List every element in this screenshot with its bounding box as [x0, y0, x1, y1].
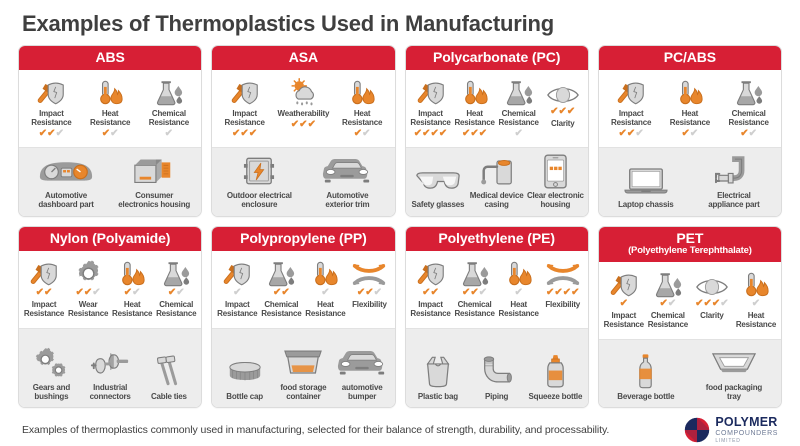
application-label: Cable ties [151, 393, 187, 402]
application-label: Squeeze bottle [529, 393, 583, 402]
checkmark-icon: ✔ [563, 288, 571, 297]
checkmark-icon: ✔ [362, 129, 370, 138]
thermometer-flame-icon [676, 77, 704, 107]
property-label: Impact Resistance [410, 110, 450, 128]
checkmark-icon: ✔ [308, 120, 316, 129]
food-container-icon [282, 346, 324, 380]
checkmark-icon: ✔ [233, 288, 241, 297]
application-item: Beverage bottle [602, 355, 690, 402]
checkmark-icon: ✔ [470, 129, 478, 138]
property-item: Weatherability✔✔✔ [274, 77, 333, 129]
checkmark-icon: ✔ [249, 129, 257, 138]
rating-ticks: ✔ [321, 288, 329, 297]
property-item: Heat Resistance✔✔✔ [453, 77, 497, 138]
car-front-icon [321, 154, 373, 188]
cable-ties-icon [153, 355, 185, 389]
page-title: Examples of Thermoplastics Used in Manuf… [18, 0, 782, 45]
property-item: ✔✔✔Clarity [541, 77, 585, 129]
card-title: ABS [95, 49, 124, 65]
application-item: Electrical appliance part [690, 154, 778, 210]
property-item: ✔Impact Resistance [215, 258, 259, 319]
property-label: Impact Resistance [410, 301, 450, 319]
rating-ticks: ✔✔ [422, 288, 439, 297]
hammer-shield-icon [415, 258, 447, 288]
application-item: Automotive dashboard part [22, 154, 110, 210]
properties-section: Impact Resistance✔✔✔ Heat Resistance✔✔ C… [599, 70, 781, 148]
application-label: Automotive dashboard part [38, 192, 93, 210]
rating-ticks: ✔✔✔✔ [546, 288, 580, 297]
application-label: Gears and bushings [33, 384, 70, 402]
applications-section: Outdoor electrical enclosure Automotive … [212, 148, 394, 216]
application-item: Consumer electronics housing [110, 154, 198, 210]
checkmark-icon: ✔ [690, 129, 698, 138]
beverage-bottle-icon [635, 355, 656, 389]
checkmark-icon: ✔ [176, 288, 184, 297]
checkmark-icon: ✔ [740, 129, 748, 138]
checkmark-icon: ✔ [44, 288, 52, 297]
rating-ticks: ✔✔ [659, 299, 676, 308]
hammer-shield-icon [28, 258, 60, 288]
dashboard-icon [37, 154, 95, 188]
checkmark-icon: ✔ [102, 129, 110, 138]
property-label: Heat Resistance [499, 301, 539, 319]
checkmark-icon: ✔ [414, 129, 422, 138]
card-header: PC/ABS [599, 46, 781, 70]
card-title: Nylon (Polyamide) [50, 230, 170, 246]
rating-ticks: ✔✔ [740, 129, 757, 138]
safety-glasses-icon [414, 163, 462, 197]
rating-ticks: ✔✔✔ [619, 129, 644, 138]
rating-ticks: ✔✔ [102, 129, 119, 138]
material-card-pet: PET(Polyethylene Terephthalate) ✔Impact … [598, 226, 782, 408]
infographic-page: Examples of Thermoplastics Used in Manuf… [0, 0, 800, 446]
application-item: Plastic bag [409, 355, 468, 402]
application-label: Industrial connectors [90, 384, 131, 402]
medical-device-icon [478, 154, 516, 188]
checkmark-icon: ✔ [357, 288, 365, 297]
checkmark-icon: ✔ [559, 107, 567, 116]
flexibility-arrows-icon [545, 258, 581, 288]
property-label: Impact Resistance [217, 301, 257, 319]
checkmark-icon: ✔ [695, 299, 703, 308]
checkmark-icon: ✔ [110, 129, 118, 138]
checkmark-icon: ✔ [470, 288, 478, 297]
plastic-bag-icon [421, 355, 455, 389]
properties-section: ✔✔Impact Resistance ✔✔✔Wear Resistance ✔… [19, 251, 201, 329]
property-label: Impact Resistance [604, 312, 644, 330]
checkmark-icon: ✔ [619, 129, 627, 138]
thermometer-flame-icon [96, 77, 124, 107]
checkmark-icon: ✔ [291, 120, 299, 129]
checkmark-icon: ✔ [321, 288, 329, 297]
card-title: PET [676, 230, 703, 246]
cards-row-bottom: Nylon (Polyamide) ✔✔Impact Resistance ✔✔… [18, 226, 782, 408]
checkmark-icon: ✔ [39, 129, 47, 138]
card-title: Polypropylene (PP) [240, 230, 367, 246]
property-label: Impact Resistance [225, 110, 265, 128]
application-item: Medical device casing [467, 154, 526, 210]
flask-droplet-icon [653, 269, 683, 299]
squeeze-bottle-icon [543, 355, 568, 389]
rating-ticks: ✔✔✔ [291, 120, 316, 129]
property-label: Heat Resistance [736, 312, 776, 330]
application-item: Cable ties [140, 355, 199, 402]
eye-icon [695, 269, 729, 299]
rating-ticks: ✔✔✔ [39, 129, 64, 138]
rating-ticks: ✔ [165, 129, 173, 138]
property-label: Chemical Resistance [454, 301, 494, 319]
checkmark-icon: ✔ [620, 299, 628, 308]
company-logo: POLYMER COMPOUNDERS LIMITED [684, 416, 778, 444]
rating-ticks: ✔ [514, 129, 522, 138]
checkmark-icon: ✔ [354, 129, 362, 138]
thermometer-flame-icon [118, 258, 146, 288]
checkmark-icon: ✔ [84, 288, 92, 297]
checkmark-icon: ✔ [571, 288, 579, 297]
property-label: Heat Resistance [90, 110, 130, 128]
hammer-shield-icon [35, 77, 67, 107]
property-label: Heat Resistance [454, 110, 494, 128]
application-label: Automotive exterior trim [325, 192, 369, 210]
rating-ticks: ✔✔✔ [232, 129, 257, 138]
application-item: Safety glasses [409, 163, 468, 210]
checkmark-icon: ✔ [514, 288, 522, 297]
material-card-nylon-polyamide: Nylon (Polyamide) ✔✔Impact Resistance ✔✔… [18, 226, 202, 408]
application-label: Beverage bottle [617, 393, 674, 402]
checkmark-icon: ✔ [627, 129, 635, 138]
application-label: Medical device casing [470, 192, 524, 210]
property-label: Chemical Resistance [261, 301, 301, 319]
card-title: Polycarbonate (PC) [433, 49, 560, 65]
checkmark-icon: ✔ [749, 129, 757, 138]
footer-caption: Examples of thermoplastics commonly used… [22, 424, 609, 436]
property-label: Weatherability [278, 110, 330, 119]
checkmark-icon: ✔ [668, 299, 676, 308]
property-item: ✔✔✔Flexibility [347, 258, 391, 310]
application-label: food storage container [280, 384, 326, 402]
hammer-shield-icon [615, 77, 647, 107]
hammer-shield-icon [415, 77, 447, 107]
property-label: Chemical Resistance [156, 301, 196, 319]
material-card-pc-abs: PC/ABS Impact Resistance✔✔✔ Heat Resista… [598, 45, 782, 217]
card-header: Nylon (Polyamide) [19, 227, 201, 251]
rating-ticks: ✔✔✔✔ [695, 299, 729, 308]
property-label: Wear Resistance [68, 301, 108, 319]
smartphone-icon [543, 154, 568, 188]
thermometer-flame-icon [311, 258, 339, 288]
checkmark-icon: ✔ [374, 288, 382, 297]
thermometer-flame-icon [461, 77, 489, 107]
checkmark-icon: ✔ [47, 129, 55, 138]
property-label: Chemical Resistance [729, 110, 769, 128]
rating-ticks: ✔✔✔ [462, 288, 487, 297]
property-label: Heat Resistance [112, 301, 152, 319]
application-item: food storage container [274, 346, 333, 402]
property-item: ✔✔✔✔Flexibility [541, 258, 585, 310]
packaging-tray-icon [711, 346, 757, 380]
property-item: ✔✔Chemical Resistance [154, 258, 198, 319]
checkmark-icon: ✔ [462, 129, 470, 138]
application-item: Automotive exterior trim [303, 154, 391, 210]
checkmark-icon: ✔ [550, 107, 558, 116]
logo-line-1: POLYMER [715, 416, 778, 429]
thermometer-flame-icon [505, 258, 533, 288]
application-item: Squeeze bottle [526, 355, 585, 402]
property-item: ✔✔✔✔Clarity [690, 269, 734, 321]
property-item: Heat Resistance✔✔ [81, 77, 140, 138]
properties-section: ✔Impact Resistance ✔✔Chemical Resistance… [212, 251, 394, 329]
application-item: Laptop chassis [602, 163, 690, 210]
rating-ticks: ✔✔✔ [550, 107, 575, 116]
rating-ticks: ✔ [620, 299, 628, 308]
property-label: Chemical Resistance [499, 110, 539, 128]
checkmark-icon: ✔ [431, 288, 439, 297]
applications-section: Plastic bag Piping Squeeze bottle [406, 329, 588, 407]
checkmark-icon: ✔ [56, 129, 64, 138]
property-item: Heat Resistance✔✔ [661, 77, 720, 138]
checkmark-icon: ✔ [554, 288, 562, 297]
property-item: ✔✔✔Chemical Resistance [453, 258, 497, 319]
property-label: Impact Resistance [31, 110, 71, 128]
rating-ticks: ✔✔ [36, 288, 53, 297]
material-card-polycarbonate-pc: Polycarbonate (PC) Impact Resistance✔✔✔✔… [405, 45, 589, 217]
checkmark-icon: ✔ [635, 129, 643, 138]
material-card-polyethylene-pe: Polyethylene (PE) ✔✔Impact Resistance ✔✔… [405, 226, 589, 408]
property-item: ✔✔Impact Resistance [22, 258, 66, 319]
rating-ticks: ✔✔✔✔ [414, 129, 448, 138]
application-item: Industrial connectors [81, 346, 140, 402]
checkmark-icon: ✔ [273, 288, 281, 297]
property-item: Chemical Resistance✔ [140, 77, 199, 138]
checkmark-icon: ✔ [232, 129, 240, 138]
rating-ticks: ✔✔✔ [462, 129, 487, 138]
property-item: ✔✔Chemical Resistance [259, 258, 303, 319]
property-label: Heat Resistance [670, 110, 710, 128]
applications-section: Laptop chassis Electrical appliance part [599, 148, 781, 216]
footer: Examples of thermoplastics commonly used… [18, 408, 782, 444]
application-item: Outdoor electrical enclosure [215, 154, 303, 210]
property-item: Chemical Resistance✔✔ [719, 77, 778, 138]
applications-section: Beverage bottle food packaging tray [599, 340, 781, 408]
property-label: Heat Resistance [342, 110, 382, 128]
flask-droplet-icon [266, 258, 296, 288]
application-label: Consumer electronics housing [118, 192, 190, 210]
flask-droplet-icon [504, 77, 534, 107]
properties-section: Impact Resistance✔✔✔ Weatherability✔✔✔ H… [212, 70, 394, 148]
property-item: ✔✔Impact Resistance [409, 258, 453, 319]
cards-row-top: ABS Impact Resistance✔✔✔ Heat Resistance… [18, 45, 782, 217]
checkmark-icon: ✔ [704, 299, 712, 308]
flexibility-arrows-icon [351, 258, 387, 288]
properties-section: ✔Impact Resistance ✔✔Chemical Resistance… [599, 262, 781, 340]
checkmark-icon: ✔ [479, 129, 487, 138]
checkmark-icon: ✔ [462, 288, 470, 297]
application-item: Gears and bushings [22, 346, 81, 402]
property-item: ✔✔Chemical Resistance [646, 269, 690, 330]
card-title: ASA [289, 49, 318, 65]
rating-ticks: ✔✔✔ [357, 288, 382, 297]
property-label: Impact Resistance [611, 110, 651, 128]
properties-section: Impact Resistance✔✔✔ Heat Resistance✔✔ C… [19, 70, 201, 148]
flask-droplet-icon [154, 77, 184, 107]
checkmark-icon: ✔ [431, 129, 439, 138]
checkmark-icon: ✔ [681, 129, 689, 138]
property-item: ✔Heat Resistance [303, 258, 347, 319]
card-title: PC/ABS [664, 49, 716, 65]
checkmark-icon: ✔ [36, 288, 44, 297]
applications-section: Automotive dashboard part Consumer elect… [19, 148, 201, 216]
thermometer-flame-icon [348, 77, 376, 107]
card-subtitle: (Polyethylene Terephthalate) [603, 246, 777, 256]
flask-droplet-icon [734, 77, 764, 107]
property-item: Impact Resistance✔✔✔ [602, 77, 661, 138]
application-label: Laptop chassis [618, 201, 673, 210]
application-item: food packaging tray [690, 346, 778, 402]
application-label: Piping [485, 393, 508, 402]
applications-section: Gears and bushings Industrial connectors… [19, 329, 201, 407]
checkmark-icon: ✔ [299, 120, 307, 129]
property-item: Impact Resistance✔✔✔ [215, 77, 274, 138]
logo-mark-icon [684, 417, 710, 443]
checkmark-icon: ✔ [422, 288, 430, 297]
electronics-housing-icon [132, 154, 176, 188]
material-card-asa: ASA Impact Resistance✔✔✔ Weatherability✔… [211, 45, 395, 217]
rating-ticks: ✔ [233, 288, 241, 297]
card-header: ABS [19, 46, 201, 70]
rating-ticks: ✔✔ [124, 288, 141, 297]
properties-section: Impact Resistance✔✔✔✔ Heat Resistance✔✔✔… [406, 70, 588, 148]
card-header: Polypropylene (PP) [212, 227, 394, 251]
property-label: Flexibility [545, 301, 580, 310]
rating-ticks: ✔✔ [354, 129, 371, 138]
plug-icon [715, 154, 753, 188]
checkmark-icon: ✔ [439, 129, 447, 138]
hammer-shield-icon [221, 258, 253, 288]
logo-line-2: COMPOUNDERS [715, 430, 778, 437]
gears-icon [32, 346, 70, 380]
checkmark-icon: ✔ [168, 288, 176, 297]
checkmark-icon: ✔ [365, 288, 373, 297]
material-card-abs: ABS Impact Resistance✔✔✔ Heat Resistance… [18, 45, 202, 217]
laptop-icon [623, 163, 669, 197]
electrical-enclosure-icon [243, 154, 275, 188]
application-label: Bottle cap [226, 393, 263, 402]
applications-section: Safety glasses Medical device casing Cle… [406, 148, 588, 216]
rating-ticks: ✔✔ [681, 129, 698, 138]
checkmark-icon: ✔ [479, 288, 487, 297]
property-label: Impact Resistance [24, 301, 64, 319]
property-label: Chemical Resistance [648, 312, 688, 330]
card-title: Polyethylene (PE) [438, 230, 555, 246]
checkmark-icon: ✔ [92, 288, 100, 297]
checkmark-icon: ✔ [281, 288, 289, 297]
property-item: ✔Heat Resistance [734, 269, 778, 330]
card-header: PET(Polyethylene Terephthalate) [599, 227, 781, 261]
car-front-icon [336, 346, 388, 380]
card-header: Polyethylene (PE) [406, 227, 588, 251]
property-label: Clarity [700, 312, 724, 321]
rating-ticks: ✔✔ [168, 288, 185, 297]
checkmark-icon: ✔ [712, 299, 720, 308]
property-item: Impact Resistance✔✔✔✔ [409, 77, 453, 138]
property-item: Impact Resistance✔✔✔ [22, 77, 81, 138]
checkmark-icon: ✔ [240, 129, 248, 138]
checkmark-icon: ✔ [659, 299, 667, 308]
gear-icon [74, 258, 103, 288]
hammer-shield-icon [229, 77, 261, 107]
material-card-polypropylene-pp: Polypropylene (PP) ✔Impact Resistance ✔✔… [211, 226, 395, 408]
bottle-cap-icon [226, 355, 264, 389]
card-header: ASA [212, 46, 394, 70]
connector-icon [89, 346, 131, 380]
property-label: Flexibility [352, 301, 387, 310]
checkmark-icon: ✔ [567, 107, 575, 116]
checkmark-icon: ✔ [124, 288, 132, 297]
logo-line-3: LIMITED [715, 439, 778, 444]
property-label: Clarity [551, 120, 575, 129]
applications-section: Bottle cap food storage container automo… [212, 329, 394, 407]
property-item: Heat Resistance✔✔ [333, 77, 392, 138]
property-item: ✔✔✔Wear Resistance [66, 258, 110, 319]
application-item: automotive bumper [333, 346, 392, 402]
properties-section: ✔✔Impact Resistance ✔✔✔Chemical Resistan… [406, 251, 588, 329]
application-label: automotive bumper [342, 384, 383, 402]
thermometer-flame-icon [742, 269, 770, 299]
application-label: Clear electronic housing [527, 192, 584, 210]
checkmark-icon: ✔ [546, 288, 554, 297]
checkmark-icon: ✔ [422, 129, 430, 138]
rating-ticks: ✔✔✔ [76, 288, 101, 297]
property-label: Heat Resistance [305, 301, 345, 319]
sun-cloud-rain-icon [286, 77, 320, 107]
rating-ticks: ✔✔ [273, 288, 290, 297]
property-item: ✔Impact Resistance [602, 269, 646, 330]
pipe-icon [479, 355, 515, 389]
application-label: Plastic bag [418, 393, 458, 402]
application-label: Outdoor electrical enclosure [227, 192, 292, 210]
rating-ticks: ✔ [514, 288, 522, 297]
application-item: Clear electronic housing [526, 154, 585, 210]
checkmark-icon: ✔ [720, 299, 728, 308]
card-header: Polycarbonate (PC) [406, 46, 588, 70]
rating-ticks: ✔ [752, 299, 760, 308]
checkmark-icon: ✔ [76, 288, 84, 297]
application-item: Bottle cap [215, 355, 274, 402]
checkmark-icon: ✔ [165, 129, 173, 138]
application-label: Electrical appliance part [708, 192, 759, 210]
application-item: Piping [467, 355, 526, 402]
checkmark-icon: ✔ [514, 129, 522, 138]
checkmark-icon: ✔ [132, 288, 140, 297]
property-item: ✔Heat Resistance [497, 258, 541, 319]
eye-icon [546, 77, 580, 107]
application-label: food packaging tray [706, 384, 762, 402]
application-label: Safety glasses [411, 201, 464, 210]
hammer-shield-icon [608, 269, 640, 299]
property-label: Chemical Resistance [149, 110, 189, 128]
property-item: ✔✔Heat Resistance [110, 258, 154, 319]
flask-droplet-icon [161, 258, 191, 288]
cards-grid: ABS Impact Resistance✔✔✔ Heat Resistance… [18, 45, 782, 408]
property-item: Chemical Resistance✔ [497, 77, 541, 138]
checkmark-icon: ✔ [752, 299, 760, 308]
flask-droplet-icon [460, 258, 490, 288]
